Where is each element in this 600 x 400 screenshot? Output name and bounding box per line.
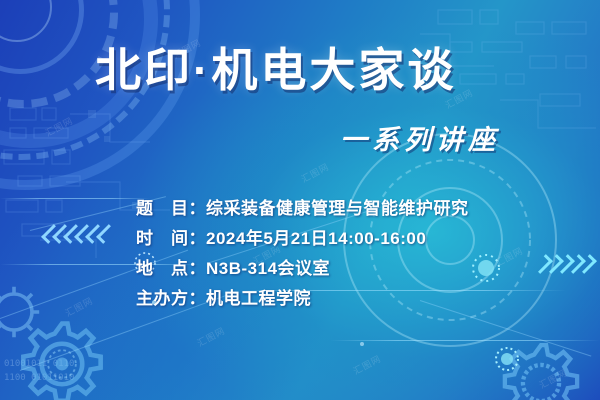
info-label-organizer: 主办方： bbox=[136, 284, 206, 314]
gear-icon-small-left bbox=[0, 282, 44, 342]
accent-line bbox=[330, 340, 600, 341]
chevrons-right-icon bbox=[538, 255, 592, 273]
poster-title: 北印·机电大家谈 bbox=[95, 34, 456, 100]
svg-text:1100 01011010: 1100 01011010 bbox=[4, 373, 74, 383]
info-label-time: 时 间： bbox=[136, 224, 206, 254]
info-row-location: 地 点：N3B-314会议室 bbox=[136, 254, 469, 284]
glow-dot bbox=[360, 342, 364, 346]
poster-subtitle: 一系列讲座 bbox=[340, 118, 500, 157]
info-label-topic: 题 目： bbox=[136, 194, 206, 224]
dotted-circle-bottom-right bbox=[492, 344, 522, 374]
watermark: 汇图网 bbox=[195, 324, 228, 350]
gear-icon-bottom-left bbox=[16, 318, 108, 400]
dotted-circle-right bbox=[468, 250, 504, 286]
info-value-location: N3B-314会议室 bbox=[206, 259, 330, 278]
info-row-topic: 题 目：综采装备健康管理与智能维护研究 bbox=[136, 194, 469, 224]
event-poster: 01001011 0110 1100 01011010 bbox=[0, 0, 600, 400]
watermark: 汇图网 bbox=[299, 160, 332, 186]
accent-line bbox=[0, 198, 150, 199]
watermark: 汇图网 bbox=[63, 294, 96, 320]
binary-strip: 01001011 0110 1100 01011010 bbox=[4, 354, 174, 394]
info-value-organizer: 机电工程学院 bbox=[206, 289, 311, 308]
info-row-time: 时 间：2024年5月21日14:00-16:00 bbox=[136, 224, 469, 254]
info-label-location: 地 点： bbox=[136, 254, 206, 284]
watermark: 汇图网 bbox=[493, 244, 526, 270]
chevrons-left-icon bbox=[46, 225, 111, 243]
watermark: 汇图网 bbox=[351, 352, 384, 378]
watermark: 汇图网 bbox=[537, 366, 570, 392]
svg-text:01001011 0110: 01001011 0110 bbox=[4, 359, 74, 369]
event-info-block: 题 目：综采装备健康管理与智能维护研究 时 间：2024年5月21日14:00-… bbox=[136, 194, 469, 314]
watermark: 汇图网 bbox=[43, 114, 76, 140]
info-value-time: 2024年5月21日14:00-16:00 bbox=[206, 229, 426, 248]
gear-icon-bottom-right bbox=[498, 340, 584, 400]
info-row-organizer: 主办方：机电工程学院 bbox=[136, 284, 469, 314]
info-value-topic: 综采装备健康管理与智能维护研究 bbox=[206, 199, 469, 218]
